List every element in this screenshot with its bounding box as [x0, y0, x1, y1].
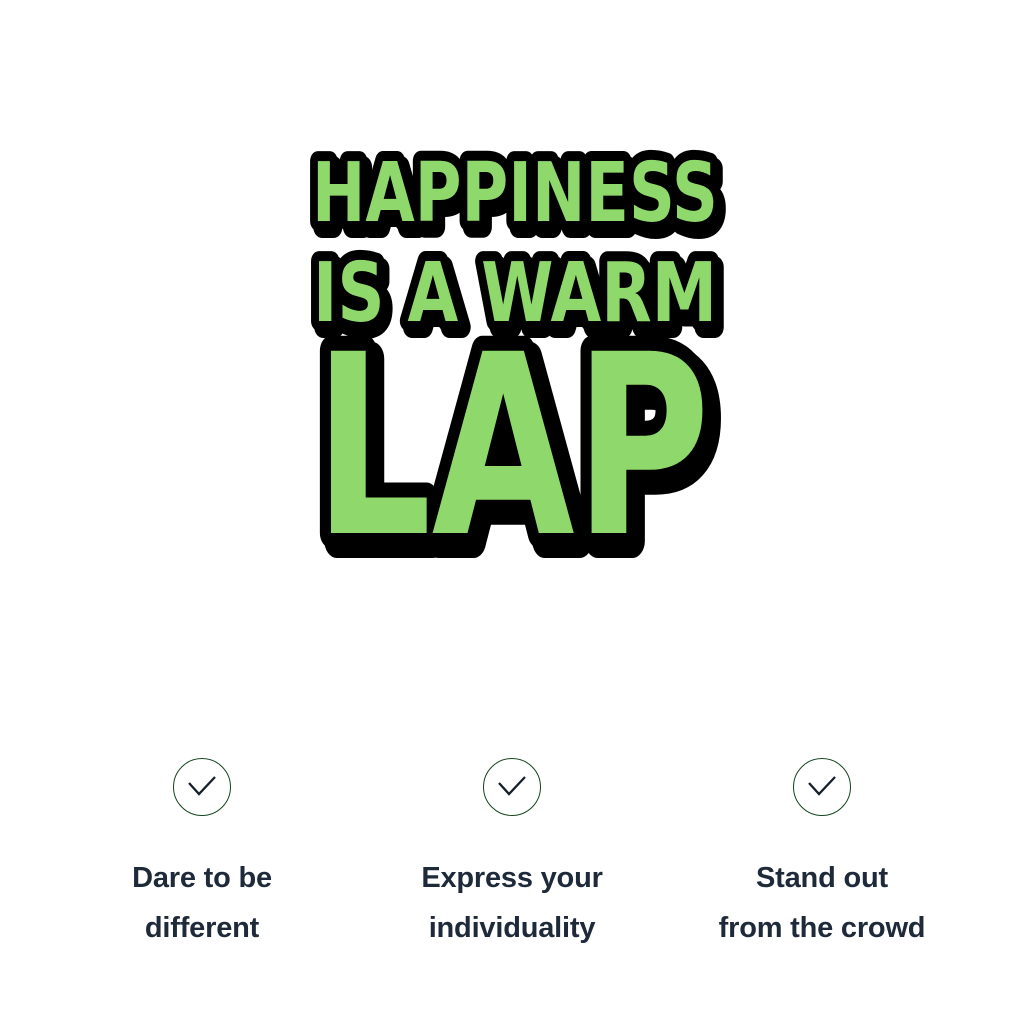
- feature-label: Stand out from the crowd: [719, 854, 926, 954]
- checkmark-path: [499, 777, 525, 794]
- check-circle-icon: [483, 758, 541, 816]
- feature-label: Express your individuality: [421, 854, 602, 954]
- feature-list: Dare to be different Express your indivi…: [0, 758, 1024, 968]
- feature-item-dare-to-be-different: Dare to be different: [52, 758, 352, 954]
- poster-canvas: HAPPINESS HAPPINESS IS A WARM IS A WARM …: [0, 0, 1024, 1024]
- checkmark-path: [189, 777, 215, 794]
- checkmark-icon: [185, 772, 219, 802]
- checkmark-path: [809, 777, 835, 794]
- feature-item-stand-out-from-the-crowd: Stand out from the crowd: [672, 758, 972, 954]
- checkmark-icon: [495, 772, 529, 802]
- check-circle-icon: [793, 758, 851, 816]
- headline-line-3-text: LAP: [314, 301, 710, 558]
- headline-graphic: HAPPINESS HAPPINESS IS A WARM IS A WARM …: [0, 118, 1024, 558]
- headline-line-1: HAPPINESS HAPPINESS: [312, 146, 722, 247]
- headline-line-3: LAP LAP: [314, 301, 716, 558]
- headline-svg: HAPPINESS HAPPINESS IS A WARM IS A WARM …: [0, 118, 1024, 558]
- headline-line-1-text: HAPPINESS: [312, 146, 718, 241]
- checkmark-icon: [805, 772, 839, 802]
- feature-label: Dare to be different: [132, 854, 272, 954]
- feature-item-express-your-individuality: Express your individuality: [362, 758, 662, 954]
- check-circle-icon: [173, 758, 231, 816]
